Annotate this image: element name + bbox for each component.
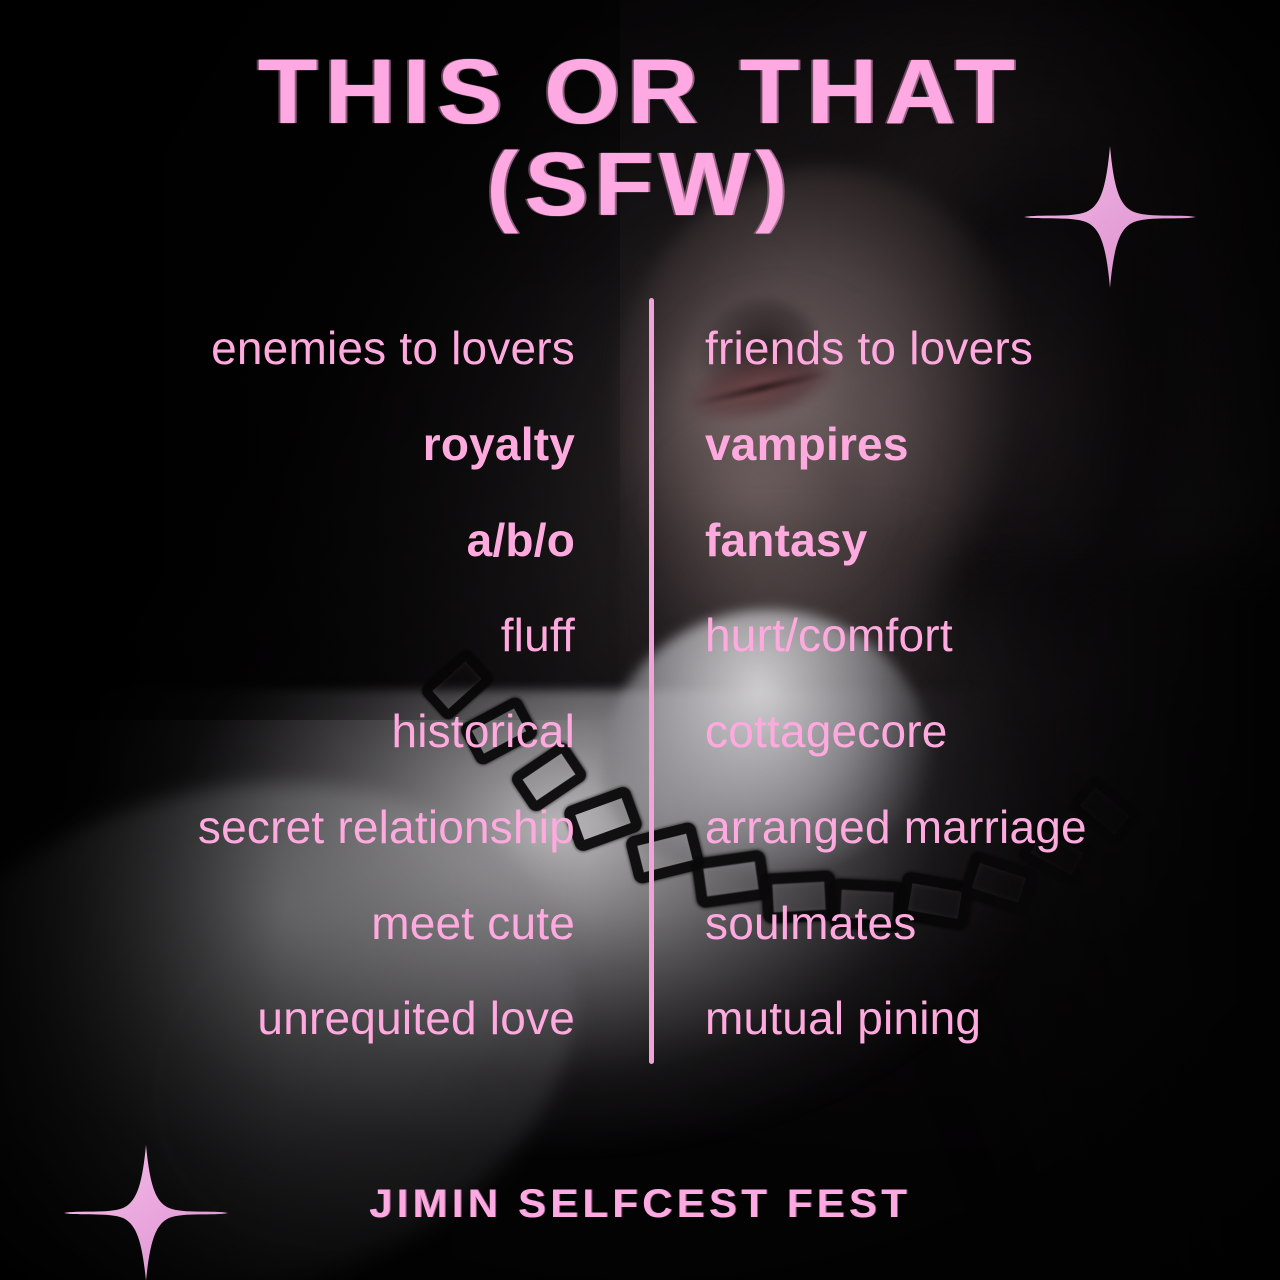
option-left[interactable]: enemies to lovers bbox=[0, 325, 610, 371]
title-line-secondary: (SFW) bbox=[0, 140, 1280, 232]
comparison-row: historicalcottagecore bbox=[0, 681, 1280, 781]
option-right[interactable]: mutual pining bbox=[670, 995, 1280, 1041]
option-right[interactable]: vampires bbox=[670, 421, 1280, 467]
comparison-list: enemies to loversfriends to loversroyalt… bbox=[0, 298, 1280, 1064]
footer-label: JIMIN SELFCEST FEST bbox=[369, 1182, 911, 1227]
option-right[interactable]: soulmates bbox=[670, 900, 1280, 946]
page-title: THIS OR THAT (SFW) bbox=[0, 46, 1280, 232]
poster-content: THIS OR THAT (SFW) enemies to loversfrie… bbox=[0, 0, 1280, 1280]
comparison-row: royaltyvampires bbox=[0, 394, 1280, 494]
title-line-primary: THIS OR THAT bbox=[0, 46, 1280, 140]
option-left[interactable]: a/b/o bbox=[0, 517, 610, 563]
comparison-row: fluffhurt/comfort bbox=[0, 585, 1280, 685]
option-right[interactable]: hurt/comfort bbox=[670, 612, 1280, 658]
option-right[interactable]: cottagecore bbox=[670, 708, 1280, 754]
comparison-row: unrequited lovemutual pining bbox=[0, 968, 1280, 1068]
comparison-row: a/b/ofantasy bbox=[0, 490, 1280, 590]
footer: JIMIN SELFCEST FEST bbox=[0, 1182, 1280, 1227]
option-right[interactable]: friends to lovers bbox=[670, 325, 1280, 371]
option-right[interactable]: fantasy bbox=[670, 517, 1280, 563]
option-left[interactable]: meet cute bbox=[0, 900, 610, 946]
option-left[interactable]: fluff bbox=[0, 612, 610, 658]
option-right[interactable]: arranged marriage bbox=[670, 804, 1280, 850]
option-left[interactable]: secret relationship bbox=[0, 804, 610, 850]
comparison-row: enemies to loversfriends to lovers bbox=[0, 298, 1280, 398]
option-left[interactable]: historical bbox=[0, 708, 610, 754]
poster-canvas: THIS OR THAT (SFW) enemies to loversfrie… bbox=[0, 0, 1280, 1280]
comparison-row: secret relationshiparranged marriage bbox=[0, 777, 1280, 877]
option-left[interactable]: unrequited love bbox=[0, 995, 610, 1041]
comparison-row: meet cutesoulmates bbox=[0, 873, 1280, 973]
option-left[interactable]: royalty bbox=[0, 421, 610, 467]
